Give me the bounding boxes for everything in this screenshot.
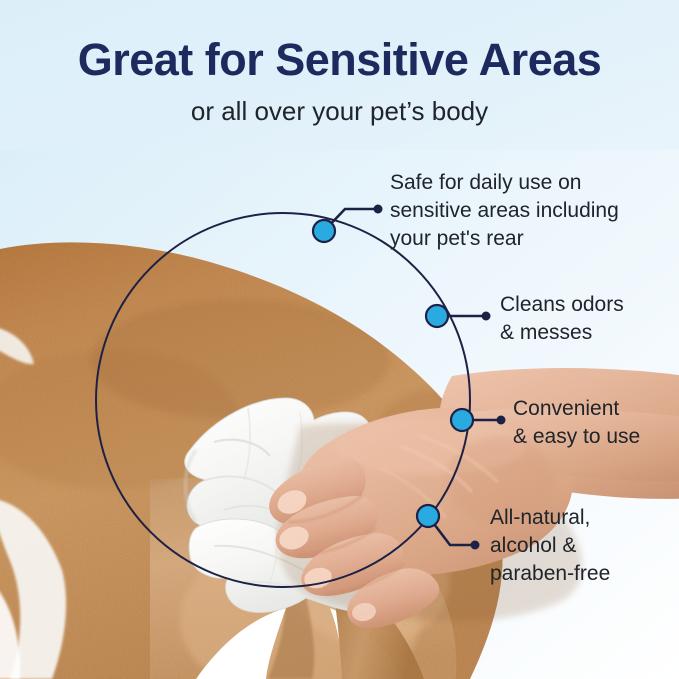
callout-text-convenient: Convenient & easy to use: [513, 395, 640, 451]
callout-text-all-natural: All-natural, alcohol & paraben-free: [490, 504, 610, 588]
callout-text-sensitive-areas: Safe for daily use on sensitive areas in…: [390, 169, 619, 253]
promo-infographic: Great for Sensitive Areas or all over yo…: [0, 0, 679, 679]
page-subtitle: or all over your pet’s body: [0, 96, 679, 127]
page-title: Great for Sensitive Areas: [0, 36, 679, 83]
callout-text-cleans-odors: Cleans odors & messes: [500, 291, 624, 347]
